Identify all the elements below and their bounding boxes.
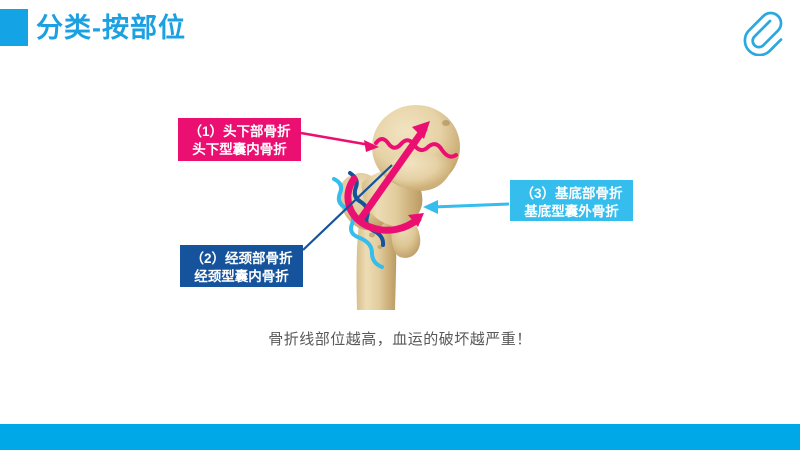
label-subcapital-fracture[interactable]: （1）头下部骨折 头下型囊内骨折 xyxy=(178,118,301,161)
label-basicervical-fracture[interactable]: （3）基底部骨折 基底型囊外骨折 xyxy=(510,180,633,221)
label-1-line-2: 头下型囊内骨折 xyxy=(187,141,292,159)
title-accent-block xyxy=(0,9,28,46)
label-3-line-2: 基底型囊外骨折 xyxy=(519,203,624,221)
paperclip-icon[interactable] xyxy=(737,8,785,56)
proximal-femur-figure xyxy=(300,95,520,320)
label-1-line-1: （1）头下部骨折 xyxy=(187,123,292,141)
label-transcervical-fracture[interactable]: （2）经颈部骨折 经颈型囊内骨折 xyxy=(180,245,303,287)
slide-canvas: 分类-按部位 xyxy=(0,0,800,450)
bone-foramen xyxy=(442,120,450,126)
footer-bar xyxy=(0,424,800,450)
label-2-line-2: 经颈型囊内骨折 xyxy=(189,268,294,286)
label-3-line-1: （3）基底部骨折 xyxy=(519,185,624,203)
slide-caption: 骨折线部位越高，血运的破坏越严重！ xyxy=(0,328,800,349)
page-title: 分类-按部位 xyxy=(36,11,186,45)
label-2-line-1: （2）经颈部骨折 xyxy=(189,250,294,268)
